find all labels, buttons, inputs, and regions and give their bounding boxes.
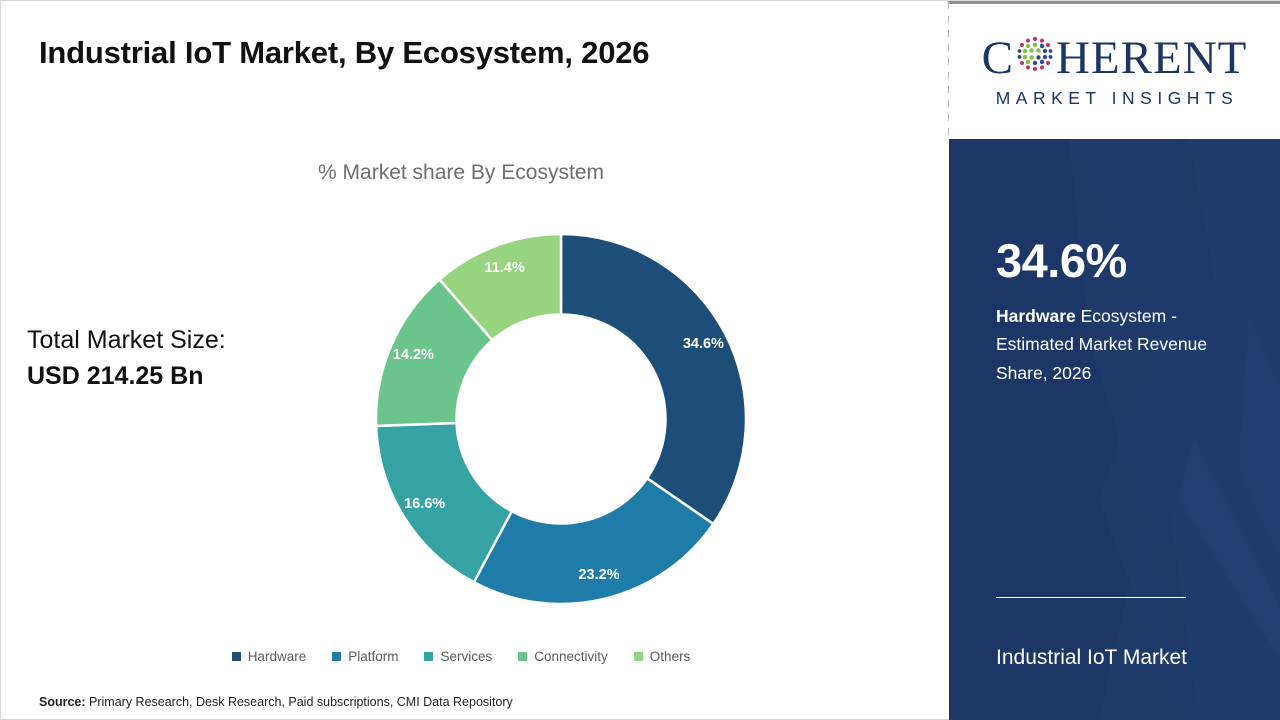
chart-area: Industrial IoT Market, By Ecosystem, 202…: [1, 1, 949, 720]
legend-label: Hardware: [248, 649, 307, 664]
logo-letters-herent: HERENT: [1056, 35, 1247, 82]
highlight-description: Hardware Ecosystem - Estimated Market Re…: [996, 302, 1241, 387]
legend-swatch-icon: [424, 652, 433, 661]
legend-item[interactable]: Hardware: [232, 649, 307, 664]
highlight-percent: 34.6%: [996, 237, 1241, 284]
donut-slice-label: 11.4%: [484, 260, 524, 276]
highlight-description-bold: Hardware: [996, 306, 1076, 326]
highlight-panel-content: 34.6% Hardware Ecosystem - Estimated Mar…: [996, 237, 1241, 387]
panel-divider-rule: [996, 597, 1186, 598]
dotted-globe-icon: [1015, 34, 1055, 83]
legend-item[interactable]: Others: [634, 649, 691, 664]
source-label: Source:: [39, 695, 86, 709]
legend-swatch-icon: [332, 652, 341, 661]
chart-subtitle: % Market share By Ecosystem: [1, 161, 921, 185]
donut-chart: 34.6%23.2%16.6%14.2%11.4%: [361, 219, 761, 619]
source-note: Source: Primary Research, Desk Research,…: [39, 695, 513, 709]
panel-background-graphic: [949, 139, 1280, 720]
page-title: Industrial IoT Market, By Ecosystem, 202…: [39, 35, 649, 71]
donut-slice-label: 34.6%: [683, 336, 724, 352]
donut-slice-label: 16.6%: [404, 496, 445, 512]
donut-slice: [561, 234, 746, 524]
logo-wordmark: C: [982, 34, 1248, 83]
legend-swatch-icon: [634, 652, 643, 661]
legend-label: Connectivity: [534, 649, 608, 664]
total-market-size-value: USD 214.25 Bn: [27, 359, 226, 395]
brand-logo: C: [949, 4, 1280, 139]
source-text: Primary Research, Desk Research, Paid su…: [86, 695, 513, 709]
legend-item[interactable]: Services: [424, 649, 492, 664]
logo-tagline: MARKET INSIGHTS: [991, 88, 1239, 109]
legend-label: Platform: [348, 649, 398, 664]
logo-letter-c: C: [982, 35, 1014, 82]
legend-swatch-icon: [518, 652, 527, 661]
total-market-size-label: Total Market Size:: [27, 323, 226, 359]
donut-chart-svg: 34.6%23.2%16.6%14.2%11.4%: [361, 219, 761, 619]
total-market-size-block: Total Market Size: USD 214.25 Bn: [27, 323, 226, 394]
highlight-panel: 34.6% Hardware Ecosystem - Estimated Mar…: [949, 139, 1280, 720]
legend-item[interactable]: Connectivity: [518, 649, 608, 664]
donut-slice-label: 14.2%: [393, 347, 434, 363]
legend-swatch-icon: [232, 652, 241, 661]
legend-item[interactable]: Platform: [332, 649, 398, 664]
legend-label: Services: [440, 649, 492, 664]
legend-label: Others: [650, 649, 691, 664]
donut-slice-group: [376, 234, 746, 604]
chart-legend: HardwarePlatformServicesConnectivityOthe…: [1, 649, 921, 664]
panel-market-name: Industrial IoT Market: [996, 641, 1246, 676]
donut-slice-label: 23.2%: [578, 567, 619, 583]
infographic-page: Industrial IoT Market, By Ecosystem, 202…: [0, 0, 1280, 720]
